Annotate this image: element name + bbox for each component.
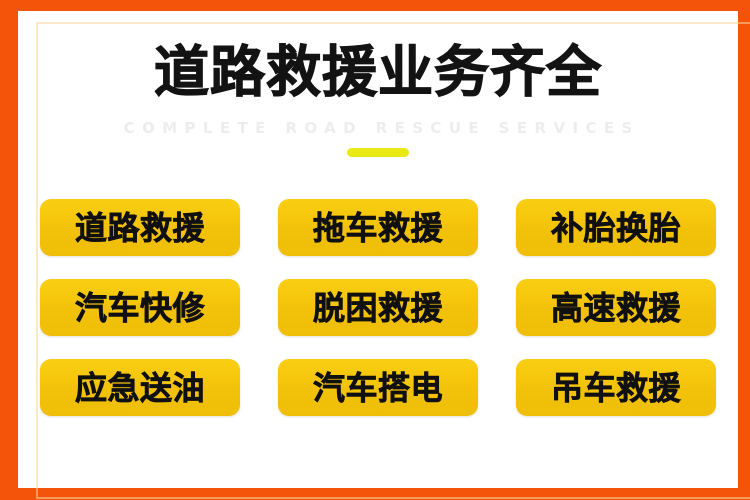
service-chip-quick-car-repair[interactable]: 汽车快修 [40,279,240,336]
service-chip-tow-rescue[interactable]: 拖车救援 [278,199,478,256]
service-chip-road-rescue[interactable]: 道路救援 [40,199,240,256]
service-chip-highway-rescue[interactable]: 高速救援 [516,279,716,336]
service-chip-label: 脱困救援 [313,291,443,325]
accent-underline-bar [347,148,409,157]
frame-border-bottom [0,488,750,500]
service-chip-label: 应急送油 [75,371,205,405]
poster-root: 道路救援业务齐全 COMPLETE ROAD RESCUE SERVICES 道… [0,0,750,500]
page-title: 道路救援业务齐全 [18,41,738,103]
service-grid: 道路救援 拖车救援 补胎换胎 汽车快修 脱困救援 高速救援 应急送油 汽车搭电 [40,199,716,416]
frame-border-left [0,0,18,500]
service-chip-emergency-fuel[interactable]: 应急送油 [40,359,240,416]
service-chip-tire-repair-change[interactable]: 补胎换胎 [516,199,716,256]
service-chip-label: 吊车救援 [551,371,681,405]
service-chip-jump-start[interactable]: 汽车搭电 [278,359,478,416]
service-chip-label: 汽车快修 [75,291,205,325]
service-chip-extrication-rescue[interactable]: 脱困救援 [278,279,478,336]
service-chip-label: 拖车救援 [313,211,443,245]
service-chip-label: 汽车搭电 [313,371,443,405]
poster-canvas: 道路救援业务齐全 COMPLETE ROAD RESCUE SERVICES 道… [18,11,738,488]
frame-border-right [738,0,750,500]
service-chip-label: 道路救援 [75,211,205,245]
frame-border-top [0,0,750,11]
service-chip-label: 高速救援 [551,291,681,325]
service-chip-label: 补胎换胎 [551,211,681,245]
service-chip-crane-rescue[interactable]: 吊车救援 [516,359,716,416]
page-subtitle: COMPLETE ROAD RESCUE SERVICES [18,119,738,137]
